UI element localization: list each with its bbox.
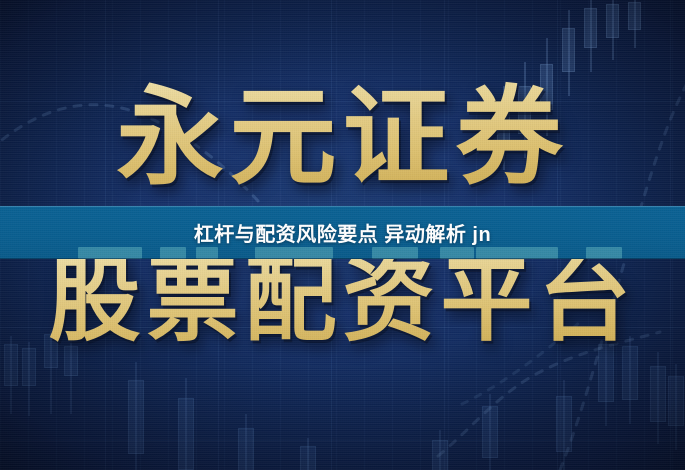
brand-title-line-2: 股票配资平台 [0, 250, 685, 352]
promo-banner: 永元证券 股票配资平台 杠杆与配资风险要点 异动解析 jn [0, 0, 685, 470]
caption-text: 杠杆与配资风险要点 异动解析 jn [0, 206, 685, 259]
brand-title-line-1: 永元证券 [0, 78, 685, 196]
